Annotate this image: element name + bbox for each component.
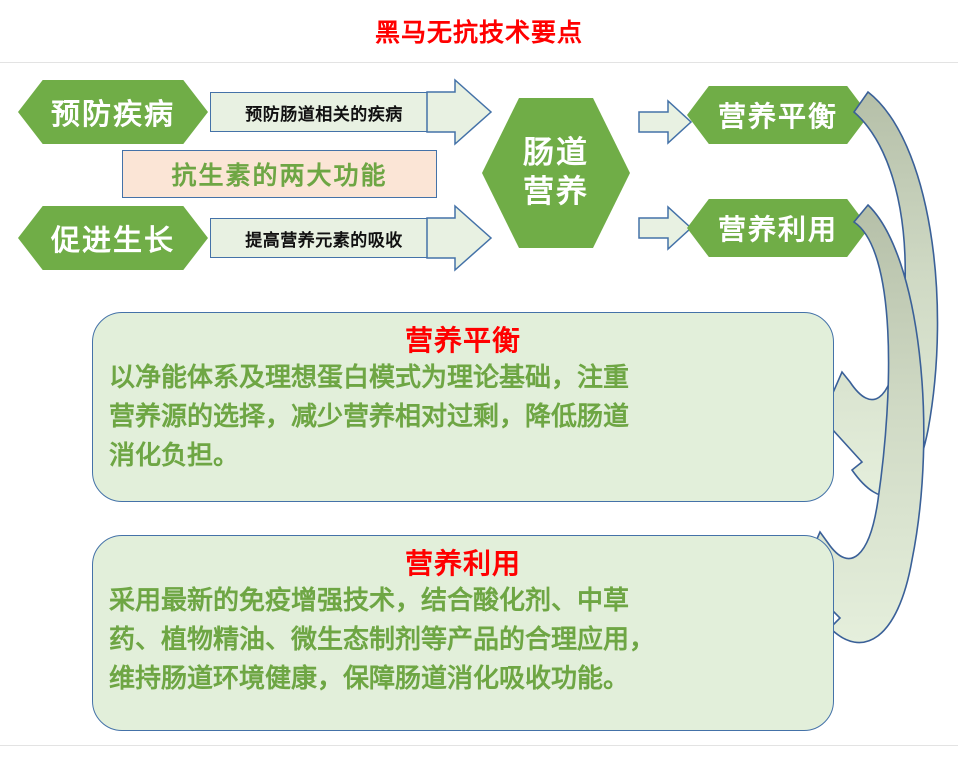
page-title: 黑马无抗技术要点 [0,18,958,48]
arrow-improve-nutrient-absorption-label: 提高营养元素的吸收 [218,218,430,258]
slide-canvas: 黑马无抗技术要点 预防疾病 预防肠道相关的疾病 抗生素的两大功能 促进生长 提高… [0,0,958,757]
hub-intestinal-nutrition[interactable]: 肠道 营养 [482,98,630,248]
card-nutrition-balance-line-1: 以净能体系及理想蛋白模式为理论基础，注重 [109,359,817,398]
card-nutrition-utilization-body: 采用最新的免疫增强技术，结合酸化剂、中草 药、植物精油、微生态制剂等产品的合理应… [109,582,817,699]
card-nutrition-balance-line-3: 消化负担。 [109,437,817,476]
card-nutrition-utilization-line-1: 采用最新的免疫增强技术，结合酸化剂、中草 [109,582,817,621]
outcome-nutrition-balance[interactable]: 营养平衡 [687,86,869,144]
card-nutrition-utilization-title: 营养利用 [109,546,817,582]
card-nutrition-balance[interactable]: 营养平衡 以净能体系及理想蛋白模式为理论基础，注重 营养源的选择，减少营养相对过… [92,312,834,502]
hub-line-2: 营养 [523,173,589,212]
card-nutrition-balance-line-2: 营养源的选择，减少营养相对过剩，降低肠道 [109,398,817,437]
note-antibiotic-functions-label: 抗生素的两大功能 [171,156,387,192]
outcome-nutrition-balance-label: 营养平衡 [718,95,838,135]
curved-arrow-to-card-balance [822,92,938,496]
arrow-prevent-intestinal-disease[interactable]: 预防肠道相关的疾病 [210,78,493,146]
outcome-nutrition-utilization[interactable]: 营养利用 [687,199,869,257]
top-divider [0,62,958,63]
card-nutrition-balance-title: 营养平衡 [109,323,817,359]
card-nutrition-balance-body: 以净能体系及理想蛋白模式为理论基础，注重 营养源的选择，减少营养相对过剩，降低肠… [109,359,817,476]
arrow-improve-nutrient-absorption-head [425,204,493,272]
card-nutrition-utilization-line-3: 维持肠道环境健康，保障肠道消化吸收功能。 [109,660,817,699]
arrow-prevent-intestinal-disease-label: 预防肠道相关的疾病 [218,92,430,132]
card-nutrition-utilization[interactable]: 营养利用 采用最新的免疫增强技术，结合酸化剂、中草 药、植物精油、微生态制剂等产… [92,535,834,731]
arrow-improve-nutrient-absorption[interactable]: 提高营养元素的吸收 [210,204,493,272]
bottom-divider [0,745,958,746]
note-antibiotic-functions[interactable]: 抗生素的两大功能 [122,150,437,198]
arrow-prevent-intestinal-disease-head [425,78,493,146]
right-arrow-icon-balance [638,99,692,145]
chevron-prevent-disease[interactable] [18,80,208,144]
card-nutrition-utilization-line-2: 药、植物精油、微生态制剂等产品的合理应用， [109,621,817,660]
chevron-promote-growth[interactable] [18,206,208,270]
right-arrow-icon-utilization [638,205,692,251]
outcome-nutrition-utilization-label: 营养利用 [718,208,838,248]
hub-line-1: 肠道 [523,134,589,173]
